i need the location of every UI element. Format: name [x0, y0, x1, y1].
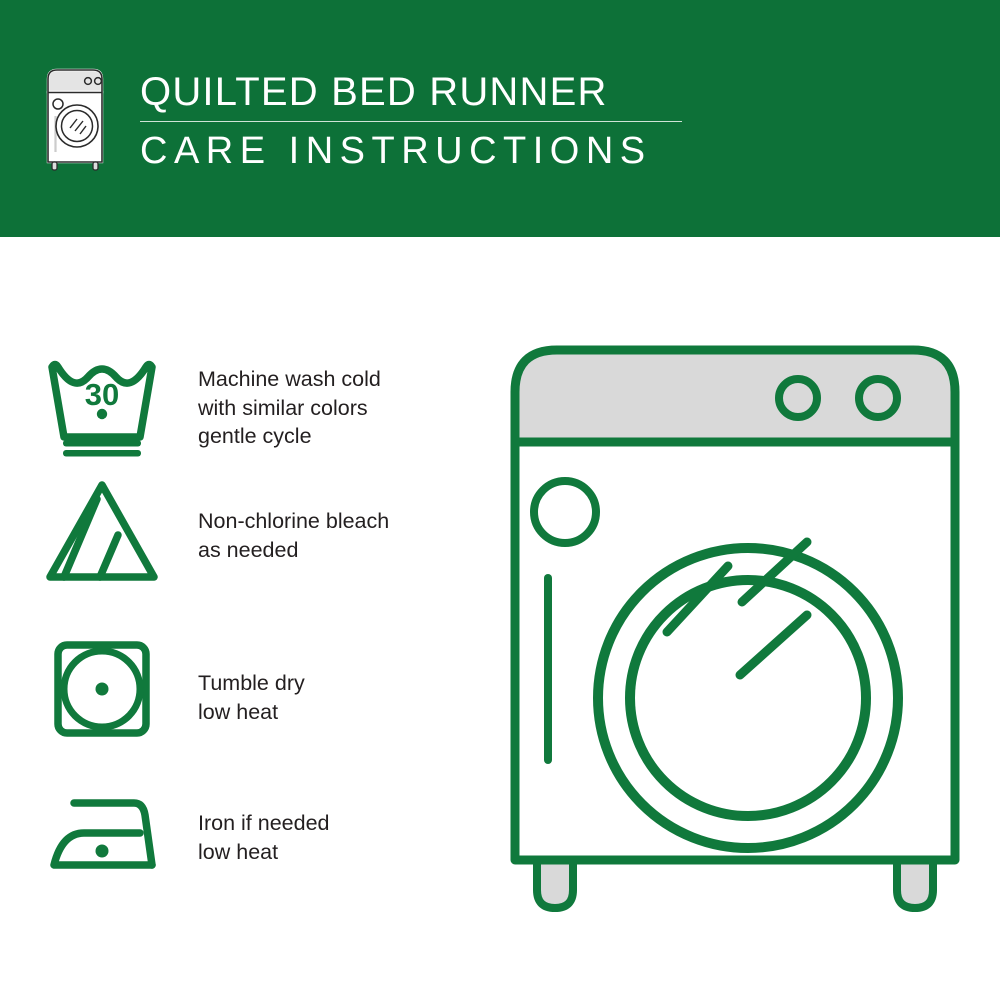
iron-icon: [44, 787, 160, 897]
care-instructions-graphic: QUILTED BED RUNNER CARE INSTRUCTIONS 30: [0, 0, 1000, 1000]
page-subtitle: CARE INSTRUCTIONS: [140, 130, 740, 172]
care-text-tumble-dry: Tumble dry low heat: [198, 669, 305, 726]
care-text-iron: Iron if needed low heat: [198, 809, 330, 866]
title-divider: [140, 121, 682, 122]
care-text-bleach: Non-chlorine bleach as needed: [198, 507, 389, 564]
washing-machine-illustration: [495, 330, 975, 930]
care-row-wash: 30 Machine wash cold with similar colors…: [0, 347, 470, 467]
machine-foot-left: [537, 860, 573, 908]
wash-tub-icon: 30: [44, 347, 160, 457]
header-title-block: QUILTED BED RUNNER CARE INSTRUCTIONS: [140, 70, 740, 172]
wash-temperature-label: 30: [85, 377, 119, 412]
machine-foot-right: [897, 860, 933, 908]
care-instruction-list: 30 Machine wash cold with similar colors…: [0, 237, 470, 1000]
care-text-wash: Machine wash cold with similar colors ge…: [198, 365, 381, 451]
care-row-tumble-dry: Tumble dry low heat: [0, 637, 470, 757]
care-row-bleach: Non-chlorine bleach as needed: [0, 477, 470, 597]
page-title: QUILTED BED RUNNER: [140, 70, 740, 114]
washing-machine-icon: [44, 66, 106, 174]
header-band: QUILTED BED RUNNER CARE INSTRUCTIONS: [0, 0, 1000, 237]
machine-control-panel: [515, 350, 955, 442]
care-row-iron: Iron if needed low heat: [0, 787, 470, 907]
tumble-dry-icon: [44, 637, 160, 747]
bleach-triangle-icon: [44, 477, 160, 587]
